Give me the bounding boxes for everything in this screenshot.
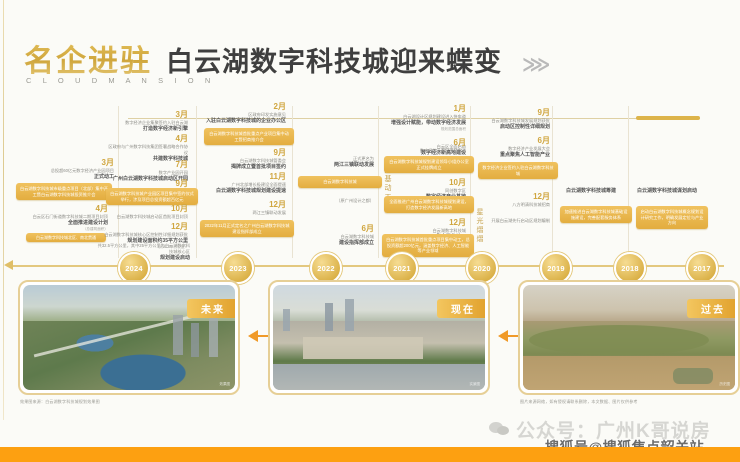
- event-strong: 入驻白云湖数字科技城的企业办公区: [200, 118, 286, 125]
- event-lead: 白云湖数字科技城启动区首批项目封顶: [110, 214, 188, 220]
- timeline-event: 6月 数字经济示范区项目启动: [388, 138, 466, 154]
- timeline-event: 白云湖数字科技城谋划启动: [634, 188, 700, 195]
- event-month: 4月: [12, 204, 108, 214]
- timeline-event: 开展白云湖先行启动区规划编制: [478, 218, 550, 224]
- event-strong: 白云湖数字科技城规划建设提速: [198, 188, 286, 195]
- timeline-event: 9月 白云湖数字科技城管委会 揭牌成立暨首批项目签约: [200, 148, 286, 171]
- timeline-event: 6月 白云湖数字科技城 建设指挥部成立: [294, 224, 374, 247]
- title-dark-text: 白云湖数字科技城迎来蝶变: [166, 40, 502, 79]
- chevron-right-icon: ⋙: [522, 52, 548, 77]
- event-highlight-box: 白云湖数字科技城北区、南北贯通: [26, 233, 106, 242]
- timeline-event: 10月 白云湖数字科技城启动区首批项目封顶: [110, 204, 188, 220]
- event-note: （总建筑面积）: [12, 227, 108, 232]
- timeline-axis-arrow-icon: [4, 260, 13, 270]
- event-note: （原广州设计之都）: [294, 198, 374, 204]
- timeline-event: 正式更名为 两江三镇联动发展: [296, 156, 374, 169]
- event-highlight-box: 白云湖数字科技城规划建设领导小组办公室正式挂牌成立: [384, 156, 474, 173]
- event-highlight-box: 数字经济企业签约入驻白云湖数字科技城: [478, 162, 558, 179]
- event-month: 10月: [110, 204, 188, 214]
- timeline-event: 4月 区政府与广州数字科技集团签署战略合作协议 共建数字科技城: [108, 134, 188, 163]
- event-month: 3月: [18, 158, 114, 168]
- title-subtitle: C L O U D M A N S I O N: [26, 76, 215, 85]
- event-strong: 两江三镇联动发展: [296, 162, 374, 169]
- event-strong: 启动区控制性详细规划: [478, 124, 550, 131]
- event-highlight-box: 白云湖数字科技城: [298, 176, 382, 188]
- event-highlight-box: 白云湖数字科技城产业园区项目集中签约仪式举行，涉及项目总投资额超百亿元: [106, 188, 198, 205]
- event-month: 2月: [200, 102, 286, 112]
- event-highlight-box: 全面推进广州白云湖数字科技城规划建设，打造数字经济发展新高地: [384, 196, 474, 213]
- photo-building: [283, 309, 290, 331]
- event-strong: 增强设计赋能，带动数字经济发展: [384, 120, 466, 127]
- card-past-watermark: 历史图: [720, 382, 731, 387]
- timeline-column-divider: [628, 106, 629, 258]
- event-strong: 揭牌成立暨首批项目签约: [200, 164, 286, 171]
- card-present-photo: 现在 实景图: [273, 285, 485, 390]
- timeline-event: 12月 两江三镇联动发展: [198, 200, 286, 216]
- card-present-watermark: 实景图: [470, 382, 481, 387]
- card-present[interactable]: 现在 实景图: [268, 280, 490, 395]
- bottom-orange-bar: [0, 447, 740, 462]
- title-gold-text: 名企进驻: [24, 36, 152, 80]
- timeline-column-divider: [196, 106, 197, 258]
- event-highlight-box: 2022年11月正式定名之广州白云湖数字科技城建设指挥部成立: [200, 220, 294, 237]
- timeline-column-divider: [552, 106, 553, 258]
- timeline-event: 3月 数字经济企业集聚签约入驻白云湖 打造数字经济新引擎: [112, 110, 188, 133]
- event-lead: 八方明清科技城招商: [478, 202, 550, 208]
- wechat-icon: [489, 420, 511, 436]
- event-month: 9月: [478, 108, 550, 118]
- timeline-event: 9月 白云湖数字科技城发展规划获批 启动区控制性详细规划: [478, 108, 550, 131]
- timeline: 奠基动工 星光熠熠 3月 总投超60亿元数字经济产业园项目 正式动工 白云湖数字…: [0, 100, 740, 275]
- photo-farmland: [529, 325, 709, 355]
- comparison-cards: 未来 效果图 效果图来源：白云湖数字科技城规划效果图 现在 实景图: [0, 280, 740, 415]
- event-month: 6月: [294, 224, 374, 234]
- card-past-caption: 图片来源网络，如有侵权请联系删除，本文数据、图片仅供参考: [520, 399, 638, 405]
- timeline-event: 3月 总投超60亿元数字经济产业园项目 正式动工: [18, 158, 114, 181]
- timeline-event: 2月 区政府印发实施意见 入驻白云湖数字科技城的企业办公区: [200, 102, 286, 125]
- card-future[interactable]: 未来 效果图: [18, 280, 240, 395]
- photo-building: [325, 303, 333, 331]
- event-lead: 共32.5平方公里，其中25平方公里为白云湖数字科技城核心区: [96, 243, 190, 255]
- event-lead: 区政府与广州数字科技集团签署战略合作协议: [108, 144, 188, 156]
- card-future-caption: 效果图来源：白云湖数字科技城规划效果图: [20, 399, 100, 405]
- event-month: 12月: [386, 218, 466, 228]
- timeline-event: 6月 数字经济产业发展大会 重点聚焦人工智能产业: [478, 136, 550, 159]
- card-present-tag: 现在: [437, 299, 485, 318]
- event-month: 1月: [384, 104, 466, 114]
- event-lead: 白云湖数字科技城筹建: [558, 188, 624, 195]
- page-title: 名企进驻 白云湖数字科技城迎来蝶变 ⋙: [24, 36, 548, 80]
- event-lead: 两江三镇联动发展: [198, 210, 286, 216]
- photo-building: [173, 315, 183, 355]
- timeline-event: 11月 广州北部增长极建设全面提速 白云湖数字科技城规划建设提速: [198, 172, 286, 195]
- card-past-tag: 过去: [687, 299, 735, 318]
- footer-watermark-area: 公众号：广州K哥说房 搜狐号@搜狐焦点韶关站: [0, 415, 740, 462]
- event-strong: 正式动工: [18, 174, 114, 181]
- event-highlight-box: 白云湖数字科技城市级重点项目（北部）集中开工暨白云湖数字科技城投资推介会: [16, 183, 112, 200]
- event-lead: 数字经济示范区项目启动: [388, 148, 466, 154]
- timeline-event: 1月 白云湖设计区规划建设进入快车道 增强设计赋能，带动数字经济发展 规划范围总…: [384, 104, 466, 132]
- event-month: 12月: [104, 222, 188, 232]
- event-month: 7月: [104, 160, 188, 170]
- event-month: 4月: [108, 134, 188, 144]
- card-future-tag: 未来: [187, 299, 235, 318]
- photo-building: [345, 299, 354, 331]
- timeline-vertical-label-2: 星光熠熠: [474, 208, 484, 244]
- event-note: 规划范围总面积: [384, 127, 466, 132]
- photo-island: [673, 368, 713, 384]
- card-past-photo: 过去 历史图: [523, 285, 735, 390]
- timeline-event: 4月 白云区石门街道数字科技城二期项目封顶 全面推进建设计划 （总建筑面积）: [12, 204, 108, 232]
- event-highlight-box: 加速推进白云湖数字科技城基础设施建设，完善配套服务体系: [560, 206, 632, 223]
- event-month: 6月: [478, 136, 550, 146]
- card-future-watermark: 效果图: [220, 382, 231, 387]
- event-strong: 建设指挥部成立: [294, 240, 374, 247]
- card-past[interactable]: 过去 历史图: [518, 280, 740, 395]
- event-highlight-box: 启动白云湖数字科技城概念规划设计研究工作，明确发展定位与产业方向: [636, 206, 708, 229]
- event-month: 12月: [478, 192, 550, 202]
- event-month: 11月: [198, 172, 286, 182]
- event-lead: 开展白云湖先行启动区规划编制: [478, 218, 550, 224]
- event-month: 6月: [388, 138, 466, 148]
- event-month: 9月: [200, 148, 286, 158]
- timeline-event: （原广州设计之都）: [294, 198, 374, 204]
- photo-construction-site: [303, 337, 423, 359]
- event-month: 12月: [198, 200, 286, 210]
- timeline-event: 12月 八方明清科技城招商: [478, 192, 550, 208]
- event-strong: 全面推进建设计划: [12, 220, 108, 227]
- poster-root: 名企进驻 白云湖数字科技城迎来蝶变 ⋙ C L O U D M A N S I …: [0, 0, 740, 462]
- event-month: 10月: [386, 178, 466, 188]
- photo-river: [273, 364, 485, 390]
- event-strong: 打造数字经济新引擎: [112, 126, 188, 133]
- event-highlight-box: 白云湖数字科技城首批重点产业项目集中动工暨招商推介会: [204, 128, 294, 145]
- event-month: 3月: [112, 110, 188, 120]
- poster-header: 名企进驻 白云湖数字科技城迎来蝶变 ⋙ C L O U D M A N S I …: [0, 28, 740, 100]
- photo-building: [191, 323, 199, 357]
- card-future-photo: 未来 效果图: [23, 285, 235, 390]
- event-lead: 白云湖数字科技城谋划启动: [634, 188, 700, 195]
- timeline-event: 白云湖数字科技城筹建: [558, 188, 624, 195]
- event-strong: 重点聚焦人工智能产业: [478, 152, 550, 159]
